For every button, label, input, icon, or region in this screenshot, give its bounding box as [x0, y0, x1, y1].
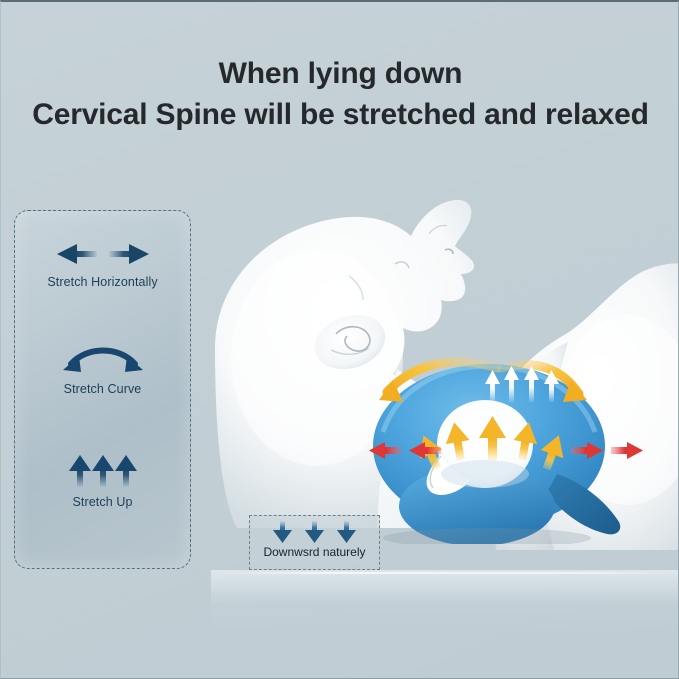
caption-label: Downwsrd naturely: [250, 545, 379, 559]
legend-item-stretch-curve: Stretch Curve: [15, 344, 190, 396]
legend-label: Stretch Horizontally: [15, 275, 190, 289]
downward-caption-box: Downwsrd naturely: [249, 515, 380, 570]
legend-panel: Stretch Horizontally Stretch Curve: [14, 210, 191, 569]
triple-down-arrow-icon: [260, 519, 370, 545]
page-title: When lying down Cervical Spine will be s…: [1, 54, 679, 134]
triple-up-arrow-icon: [49, 451, 157, 491]
title-line-1: When lying down: [1, 54, 679, 93]
double-horizontal-arrow-icon: [49, 237, 157, 271]
infographic-canvas: When lying down Cervical Spine will be s…: [0, 0, 679, 679]
legend-label: Stretch Curve: [15, 382, 190, 396]
legend-item-stretch-horizontally: Stretch Horizontally: [15, 237, 190, 289]
bed-highlight-line: [216, 572, 679, 574]
legend-label: Stretch Up: [15, 495, 190, 509]
curved-arc-arrow-icon: [49, 344, 157, 378]
cervical-neck-pillow: [367, 354, 623, 544]
bed-surface: [211, 570, 679, 632]
title-line-2: Cervical Spine will be stretched and rel…: [1, 95, 679, 134]
legend-item-stretch-up: Stretch Up: [15, 451, 190, 509]
